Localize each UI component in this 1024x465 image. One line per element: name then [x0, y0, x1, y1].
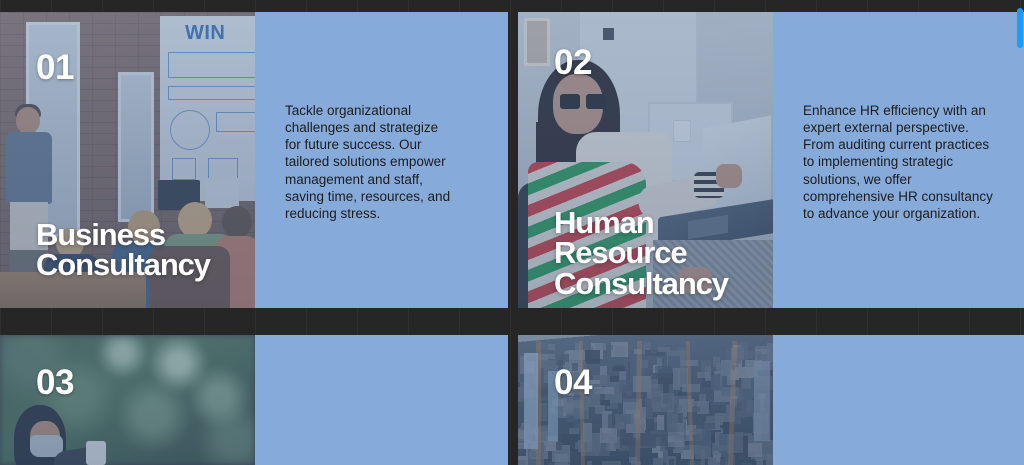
card-photo-04: 04 [518, 335, 773, 465]
vertical-scrollbar-thumb[interactable] [1017, 8, 1023, 48]
card-title-01: Business Consultancy [36, 220, 210, 281]
card-number-01: 01 [36, 50, 74, 85]
card-text-panel-01: Tackle organizational challenges and str… [255, 12, 508, 308]
card-number-04: 04 [554, 365, 592, 400]
service-card-03[interactable]: 03 [0, 335, 508, 465]
service-card-01[interactable]: WIN [0, 12, 508, 308]
card-photo-03: 03 [0, 335, 255, 465]
card-photo-02: 02 Human Resource Consultancy [518, 12, 773, 308]
card-text-panel-03 [255, 335, 508, 465]
card-description-02: Enhance HR efficiency with an expert ext… [773, 98, 1019, 223]
service-card-04[interactable]: 04 [518, 335, 1024, 465]
card-title-02: Human Resource Consultancy [554, 208, 728, 299]
services-grid-page: WIN [0, 0, 1024, 465]
service-card-02[interactable]: 02 Human Resource Consultancy Enhance HR… [518, 12, 1024, 308]
card-text-panel-02: Enhance HR efficiency with an expert ext… [773, 12, 1024, 308]
card-number-03: 03 [36, 365, 74, 400]
card-number-02: 02 [554, 45, 592, 80]
card-description-01: Tackle organizational challenges and str… [255, 98, 476, 223]
card-photo-01: WIN [0, 12, 255, 308]
card-text-panel-04 [773, 335, 1024, 465]
